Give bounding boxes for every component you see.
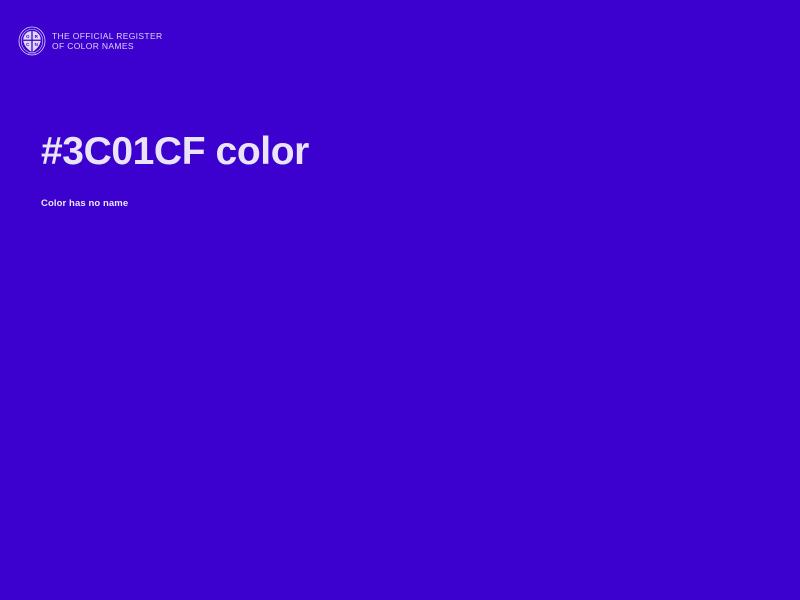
color-name-status: Color has no name	[41, 198, 128, 210]
page-title: #3C01CF color	[41, 129, 309, 175]
color-page: O R C N THE OFFICIAL REGISTER OF COLOR N…	[0, 0, 800, 600]
main-content: #3C01CF color Color has no name	[0, 0, 800, 600]
color-swatch-area	[0, 230, 800, 600]
